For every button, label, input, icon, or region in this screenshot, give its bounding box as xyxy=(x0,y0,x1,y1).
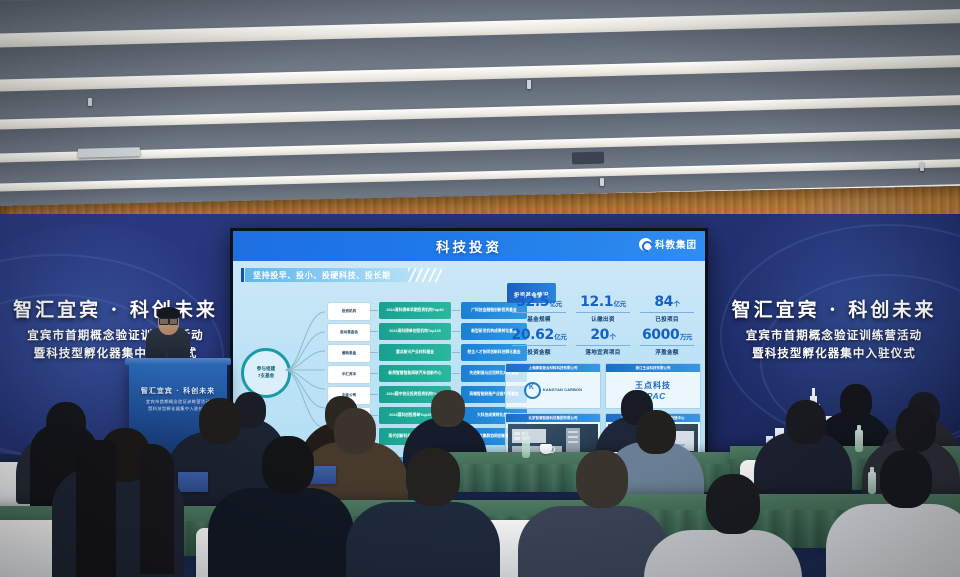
kangtan-logo-icon: KANGTAN CARBON xyxy=(524,382,582,399)
mindmap-mid-label: 新质智慧智能网联汽车创新中心 xyxy=(386,371,443,376)
banner-right-subtitle-2: 暨科技型孵化器集中入驻仪式 xyxy=(712,345,956,361)
card-company-name: 北京智谱智能科技集团有限公司 xyxy=(529,416,578,421)
stat-label: 已投项目 xyxy=(635,315,699,323)
slide-logo-text: 科教集团 xyxy=(655,237,697,251)
stat-item: 84个 已投项目 xyxy=(635,295,699,323)
stat-item: 52.5亿元 基金规模 xyxy=(507,295,571,323)
stat-value: 52.5亿元 xyxy=(507,295,571,309)
sprinkler-icon xyxy=(88,98,92,106)
swirl-logo-icon xyxy=(639,238,652,251)
speaker-glasses-icon xyxy=(159,318,178,323)
mindmap-logo-node: 睿新基金 xyxy=(327,344,371,363)
mindmap-mid-box: 2024清科榜单早期投资机构Top30 xyxy=(379,302,451,319)
mindmap-logo-node: 中汇资本 xyxy=(327,365,371,384)
mindmap-mid-box: 新质智慧智能网联汽车创新中心 xyxy=(379,365,451,382)
stat-label: 落地宜宾项目 xyxy=(571,348,635,356)
sprinkler-icon xyxy=(600,178,604,186)
ceiling-light-fixture xyxy=(78,147,140,158)
decorative-stripes-icon xyxy=(408,268,442,282)
stat-label: 基金规模 xyxy=(507,315,571,323)
card-company-name: 上海康炭复合材料科技有限公司 xyxy=(529,366,578,371)
stat-unit: 亿元 xyxy=(614,300,626,308)
mindmap-mid-box: 重点新兴产业材料基金 xyxy=(379,344,451,361)
mindmap-connector-curves xyxy=(283,306,327,436)
backdrop-banner-right: 智汇宜宾 · 科创未来 宜宾市首期概念验证训练营活动 暨科技型孵化器集中入驻仪式 xyxy=(712,295,956,361)
slide-brand-logo: 科教集团 xyxy=(639,237,697,251)
portfolio-card: 上海康炭复合材料科技有限公司 KANGTAN CARBON xyxy=(505,363,601,409)
stat-unit: 个 xyxy=(674,300,680,308)
mindmap-mid-label: 重点新兴产业材料基金 xyxy=(394,350,436,355)
card-company-name: 浙江王点科技有限公司 xyxy=(636,366,671,371)
mindmap-mid-label: 2024清科榜单早期投资机构Top30 xyxy=(384,308,445,313)
investment-stats-panel: 投资基金情况 52.5亿元 基金规模 12.1亿元 认缴出资 84个 已投项目 xyxy=(507,283,699,359)
conference-photo-scene: 智汇宜宾 · 科创未来 宜宾市首期概念验证训练营活动 暨科技型孵化器集中入驻仪式… xyxy=(0,0,960,577)
tea-cup xyxy=(540,444,552,454)
podium-title: 智汇宜宾 · 科创未来 xyxy=(129,386,227,396)
ceiling-projector-icon xyxy=(572,152,604,165)
mindmap-logo-node: 启动基金会 xyxy=(327,323,371,342)
portfolio-card: 浙江王点科技有限公司 王点科技 KPAC xyxy=(605,363,701,409)
slide-subtitle: 坚持投早、投小、投硬科技、投长期 xyxy=(253,270,391,281)
banner-right-title: 智汇宜宾 · 科创未来 xyxy=(712,295,956,322)
banner-right-subtitle-1: 宜宾市首期概念验证训练营活动 xyxy=(712,327,956,343)
water-bottle xyxy=(522,436,530,458)
card-logo-text: 王点科技 xyxy=(635,380,671,391)
stat-unit: 万元 xyxy=(680,333,692,341)
card-logo-text: KANGTAN CARBON xyxy=(543,388,582,392)
mindmap-core-line-2: 7支基金 xyxy=(258,373,274,380)
backdrop-banner-left: 智汇宜宾 · 科创未来 宜宾市首期概念验证训练营活动 暨科技型孵化器集中入驻仪式 xyxy=(8,295,223,361)
stat-value: 84个 xyxy=(635,295,699,309)
stat-unit: 个 xyxy=(610,333,616,341)
water-bottle xyxy=(855,430,863,452)
banner-left-subtitle-1: 宜宾市首期概念验证训练营活动 xyxy=(8,327,223,343)
stat-value: 6000万元 xyxy=(635,328,699,342)
mindmap-logo-label: 投资机构 xyxy=(342,309,356,314)
stat-label: 投资金额 xyxy=(507,348,571,356)
slide-title-bar: 科技投资 科教集团 xyxy=(233,231,705,261)
mindmap-logo-label: 睿新基金 xyxy=(342,351,356,356)
mindmap-mid-label: 2024清科榜单创投机构Top100 xyxy=(387,329,443,334)
stat-unit: 亿元 xyxy=(554,333,566,341)
stat-value: 20.62亿元 xyxy=(507,328,571,342)
stat-label: 浮盈金额 xyxy=(635,348,699,356)
stat-item: 6000万元 浮盈金额 xyxy=(635,328,699,356)
stat-unit: 亿元 xyxy=(550,300,562,308)
mindmap-logo-node: 投资机构 xyxy=(327,302,371,321)
stat-item: 20个 落地宜宾项目 xyxy=(571,328,635,356)
accent-bar xyxy=(241,268,244,282)
stat-label: 认缴出资 xyxy=(571,315,635,323)
stat-item: 12.1亿元 认缴出资 xyxy=(571,295,635,323)
water-bottle xyxy=(868,472,876,494)
sprinkler-icon xyxy=(920,162,924,171)
stat-value: 20个 xyxy=(571,328,635,342)
mindmap-mid-box: 2024清科榜单创投机构Top100 xyxy=(379,323,451,340)
mindmap-logo-label: 中汇资本 xyxy=(342,372,356,377)
mindmap-logo-label: 启动基金会 xyxy=(340,330,358,335)
slide-subtitle-banner: 坚持投早、投小、投硬科技、投长期 xyxy=(245,268,417,282)
stat-value: 12.1亿元 xyxy=(571,295,635,309)
card-header: 北京智谱智能科技集团有限公司 xyxy=(506,414,600,422)
slide-title: 科技投资 xyxy=(233,236,705,256)
sprinkler-icon xyxy=(527,80,531,89)
banner-left-title: 智汇宜宾 · 科创未来 xyxy=(8,295,223,322)
card-header: 浙江王点科技有限公司 xyxy=(606,364,700,372)
mindmap-core-line-1: 参与组建 xyxy=(257,366,275,373)
name-placard xyxy=(178,472,208,492)
card-header: 上海康炭复合材料科技有限公司 xyxy=(506,364,600,372)
stat-item: 20.62亿元 投资金额 xyxy=(507,328,571,356)
